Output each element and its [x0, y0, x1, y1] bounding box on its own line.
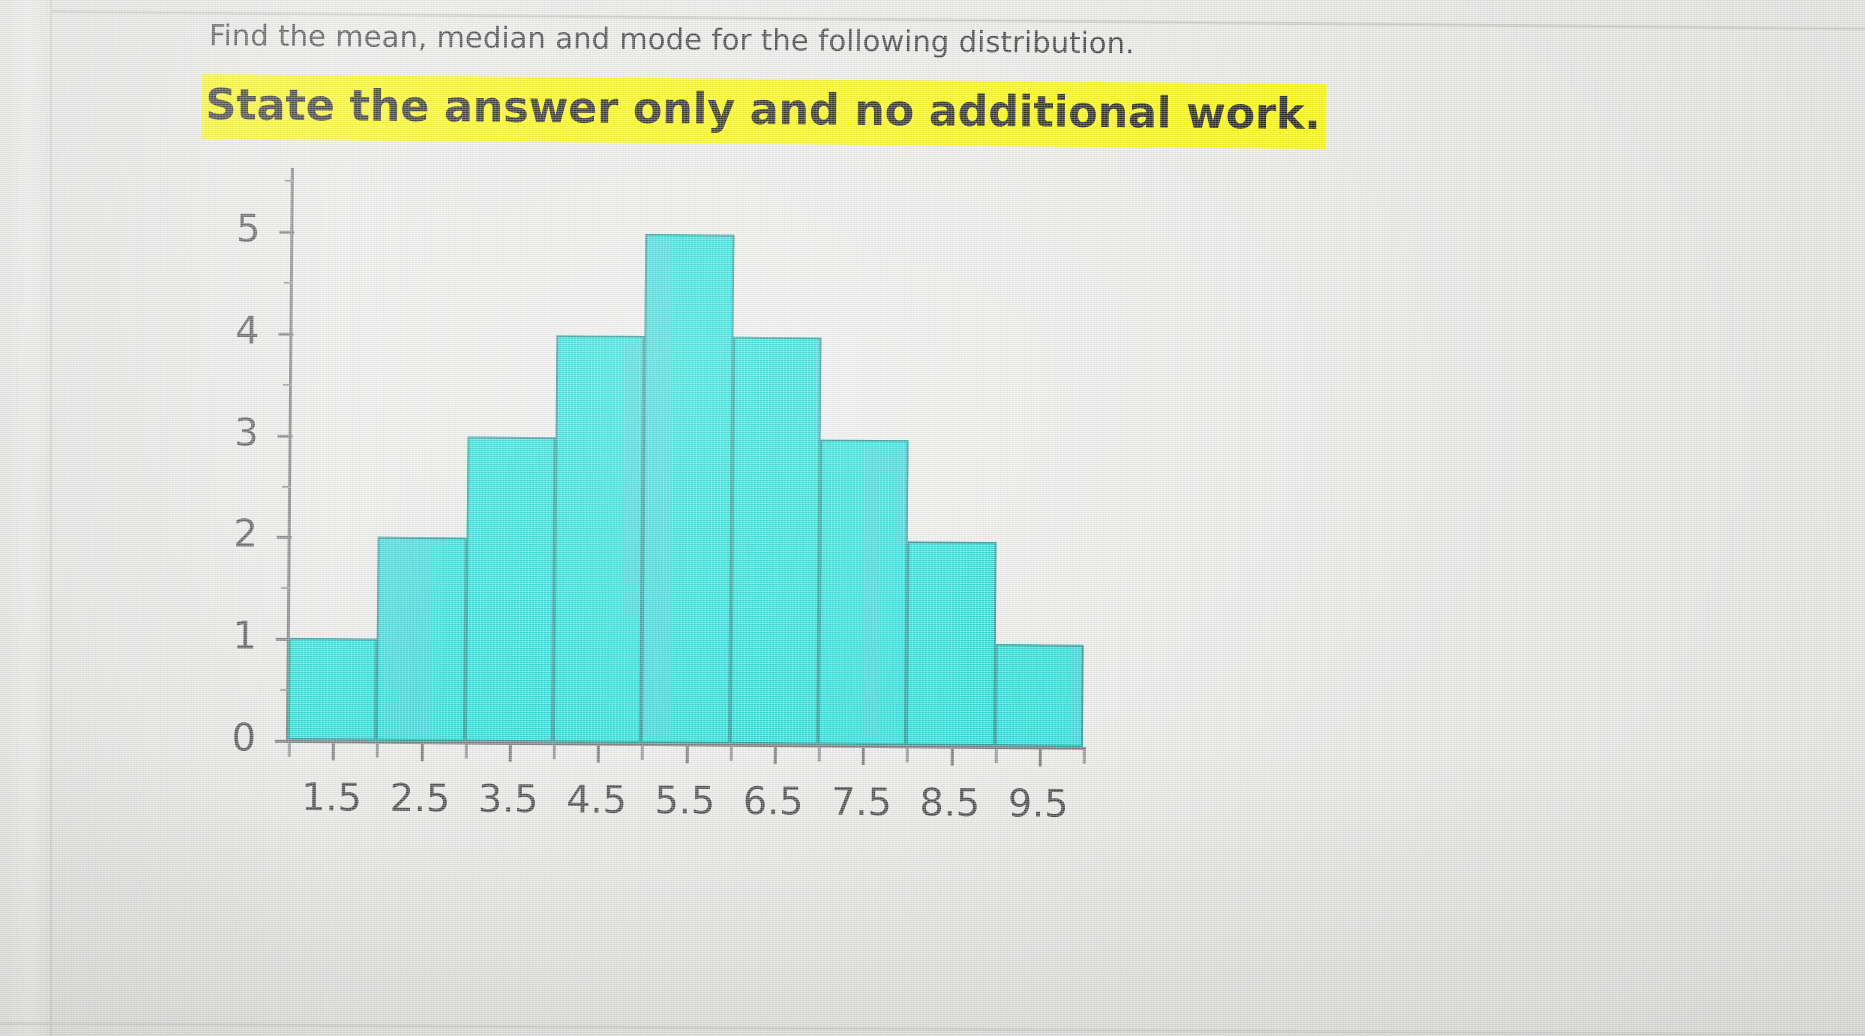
x-axis-tick-minor [1083, 750, 1086, 764]
x-axis-ticks [203, 159, 1103, 167]
window-left-edge [0, 0, 52, 1036]
y-axis-ticks [203, 159, 1103, 167]
x-axis-tick [420, 744, 423, 761]
histogram-bar [553, 335, 645, 743]
screen-photo: Find the mean, median and mode for the f… [0, 0, 1865, 1036]
histogram-bar [465, 436, 556, 742]
x-axis-tick [332, 743, 335, 760]
x-axis-tick [1039, 749, 1042, 766]
x-axis-tick-labels: 1.52.53.54.55.56.57.58.59.5 [203, 159, 1103, 167]
x-axis-tick-minor [376, 744, 379, 758]
plot-area [288, 170, 1088, 747]
histogram-bar [641, 234, 734, 744]
x-axis-tick [597, 746, 600, 763]
histogram-bar [288, 638, 377, 741]
y-axis-tick-label: 3 [212, 410, 258, 454]
y-axis-tick-label: 1 [211, 613, 257, 657]
histogram-bar [818, 439, 909, 745]
y-axis-tick-label: 5 [214, 206, 260, 250]
x-axis-tick-minor [729, 747, 732, 761]
question-prompt-text: Find the mean, median and mode for the f… [209, 19, 1135, 60]
x-axis-tick [685, 746, 688, 763]
x-axis-tick-label: 9.5 [983, 781, 1093, 826]
x-axis-tick [950, 749, 953, 766]
x-axis-tick [509, 745, 512, 762]
x-axis-tick-minor [553, 745, 556, 759]
x-axis-tick [862, 748, 865, 765]
page-content: Find the mean, median and mode for the f… [0, 0, 1865, 1036]
x-axis-tick [774, 747, 777, 764]
instruction-row: State the answer only and no additional … [201, 74, 1327, 149]
x-axis-tick-minor [906, 748, 909, 762]
highlighted-instruction-text: State the answer only and no additional … [201, 74, 1327, 149]
histogram-bar [995, 644, 1084, 747]
histogram-bar [376, 537, 466, 741]
x-axis-tick-minor [818, 748, 821, 762]
y-axis-tick-label: 0 [210, 715, 256, 759]
x-axis-tick-minor [994, 749, 997, 763]
bar-series [293, 170, 1088, 177]
y-axis-tick-labels: 012345 [203, 159, 1103, 167]
x-axis-tick-minor [288, 743, 291, 757]
x-axis-tick-minor [464, 744, 467, 758]
y-axis-tick-label: 4 [213, 308, 259, 352]
x-axis-tick-minor [641, 746, 644, 760]
histogram-bar [906, 542, 996, 746]
histogram-chart: 012345 1.52.53.54.55.56.57.58.59.5 [197, 159, 1103, 847]
histogram-bar [730, 337, 822, 745]
y-axis-tick-label: 2 [212, 512, 258, 556]
